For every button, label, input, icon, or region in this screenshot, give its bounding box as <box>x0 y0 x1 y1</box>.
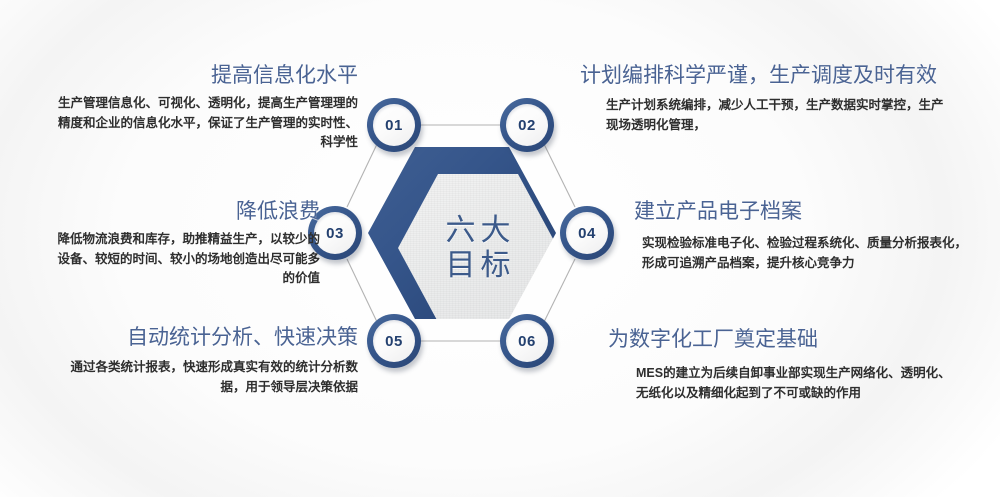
node-disc-02: 02 <box>506 104 548 146</box>
text-block-01: 提高信息化水平 生产管理信息化、可视化、透明化，提高生产管理理的精度和企业的信息… <box>48 62 358 152</box>
node-circle-05[interactable]: 05 <box>367 314 421 368</box>
heading-02: 计划编排科学严谨，生产调度及时有效 <box>580 62 980 88</box>
node-number-03: 03 <box>326 225 344 242</box>
text-block-02: 计划编排科学严谨，生产调度及时有效 生产计划系统编排，减少人工干预，生产数据实时… <box>580 62 980 135</box>
hexagon-ring: 六大 目标 <box>368 147 556 319</box>
body-05: 通过各类统计报表，快速形成真实有效的统计分析数据，用于领导层决策依据 <box>48 358 358 397</box>
body-01: 生产管理信息化、可视化、透明化，提高生产管理理的精度和企业的信息化水平，保证了生… <box>48 94 358 152</box>
heading-05: 自动统计分析、快速决策 <box>48 324 358 350</box>
node-circle-01[interactable]: 01 <box>367 98 421 152</box>
heading-03: 降低浪费 <box>48 198 320 224</box>
infographic-canvas: 六大 目标 01 02 03 04 05 06 提 <box>0 0 1000 497</box>
text-block-04: 建立产品电子档案 实现检验标准电子化、检验过程系统化、质量分析报表化，形成可追溯… <box>634 198 986 273</box>
node-number-02: 02 <box>518 117 536 134</box>
node-disc-04: 04 <box>566 212 608 254</box>
node-circle-02[interactable]: 02 <box>500 98 554 152</box>
heading-01: 提高信息化水平 <box>48 62 358 88</box>
node-disc-03: 03 <box>314 212 356 254</box>
node-number-01: 01 <box>385 117 403 134</box>
text-block-03: 降低浪费 降低物流浪费和库存，助推精益生产，以较少的设备、较短的时间、较小的场地… <box>48 198 320 288</box>
node-circle-06[interactable]: 06 <box>500 314 554 368</box>
text-block-06: 为数字化工厂奠定基础 MES的建立为后续自卸事业部实现生产网络化、透明化、无纸化… <box>608 326 988 403</box>
central-hexagon: 六大 目标 <box>352 132 572 332</box>
node-disc-01: 01 <box>373 104 415 146</box>
node-circle-04[interactable]: 04 <box>560 206 614 260</box>
center-title-line-2: 目标 <box>441 248 516 283</box>
node-disc-06: 06 <box>506 320 548 362</box>
node-number-05: 05 <box>385 333 403 350</box>
center-title-line-1: 六大 <box>441 213 516 248</box>
body-02: 生产计划系统编排，减少人工干预，生产数据实时掌控，生产现场透明化管理， <box>606 96 950 135</box>
hexagon-inner-face: 六大 目标 <box>398 174 558 322</box>
heading-04: 建立产品电子档案 <box>634 198 986 224</box>
node-disc-05: 05 <box>373 320 415 362</box>
node-number-06: 06 <box>518 333 536 350</box>
body-04: 实现检验标准电子化、检验过程系统化、质量分析报表化，形成可追溯产品档案，提升核心… <box>642 234 972 273</box>
body-06: MES的建立为后续自卸事业部实现生产网络化、透明化、无纸化以及精细化起到了不可或… <box>636 364 956 403</box>
body-03: 降低物流浪费和库存，助推精益生产，以较少的设备、较短的时间、较小的场地创造出尽可… <box>48 230 320 288</box>
text-block-05: 自动统计分析、快速决策 通过各类统计报表，快速形成真实有效的统计分析数据，用于领… <box>48 324 358 397</box>
node-number-04: 04 <box>578 225 596 242</box>
heading-06: 为数字化工厂奠定基础 <box>608 326 988 352</box>
